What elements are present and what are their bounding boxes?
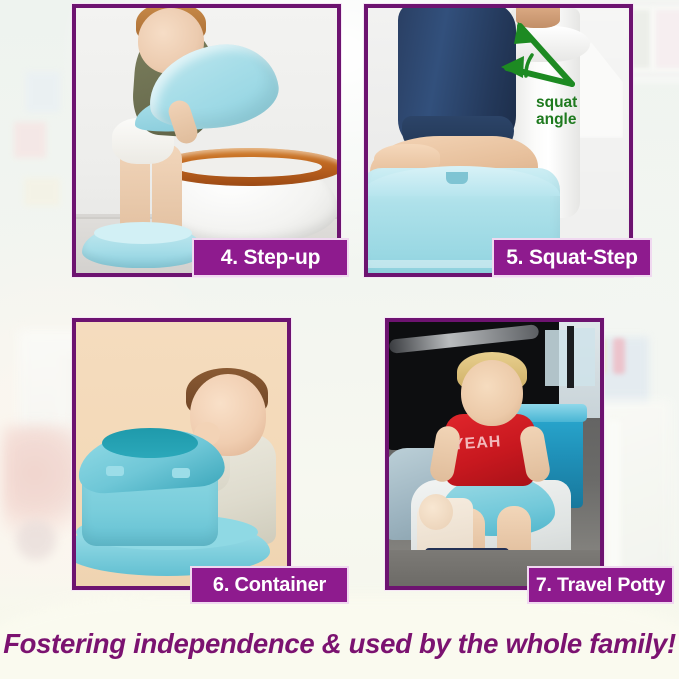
badge-step-up[interactable]: 4. Step-up [192, 238, 349, 277]
potty-container-notch [106, 466, 124, 476]
doll-head [419, 494, 453, 530]
panel-step-up-photo [76, 8, 337, 273]
panel-travel-potty[interactable]: YEAH [385, 318, 604, 590]
toilet-rim-inner [176, 157, 322, 177]
squat-angle-label-line2: angle [536, 111, 576, 128]
background-wall-card [24, 178, 60, 206]
background-bottle [613, 338, 625, 374]
car-window [573, 328, 595, 386]
badge-travel-potty[interactable]: 7. Travel Potty [527, 566, 674, 604]
squat-step-stool-notch [446, 172, 468, 184]
panel-squat-step-photo: squat angle [368, 8, 629, 273]
car-window [545, 330, 569, 386]
child-head [461, 360, 523, 426]
background-chair-leg [607, 420, 621, 590]
step-stool-top [94, 222, 192, 244]
car-pillar [567, 326, 574, 388]
background-wall-card [14, 122, 46, 158]
background-shelf-cube [652, 6, 679, 72]
panel-travel-potty-photo: YEAH [389, 322, 600, 586]
tagline: Fostering independence & used by the who… [0, 620, 679, 668]
badge-squat-step[interactable]: 5. Squat-Step [492, 238, 652, 277]
squat-angle-label: squat angle [536, 94, 622, 128]
panel-squat-step[interactable]: squat angle [364, 4, 633, 277]
potty-container-lid-inner [102, 428, 198, 458]
squat-angle-label-line1: squat [536, 94, 577, 111]
background-wall-card [26, 72, 60, 112]
badge-container[interactable]: 6. Container [190, 566, 349, 604]
panel-container-photo [76, 322, 287, 586]
panel-step-up[interactable] [72, 4, 341, 277]
potty-container-notch [172, 468, 190, 478]
background-toy-truck-wheel [16, 520, 56, 560]
partial-foot-top [516, 8, 560, 28]
panel-container[interactable] [72, 318, 291, 590]
